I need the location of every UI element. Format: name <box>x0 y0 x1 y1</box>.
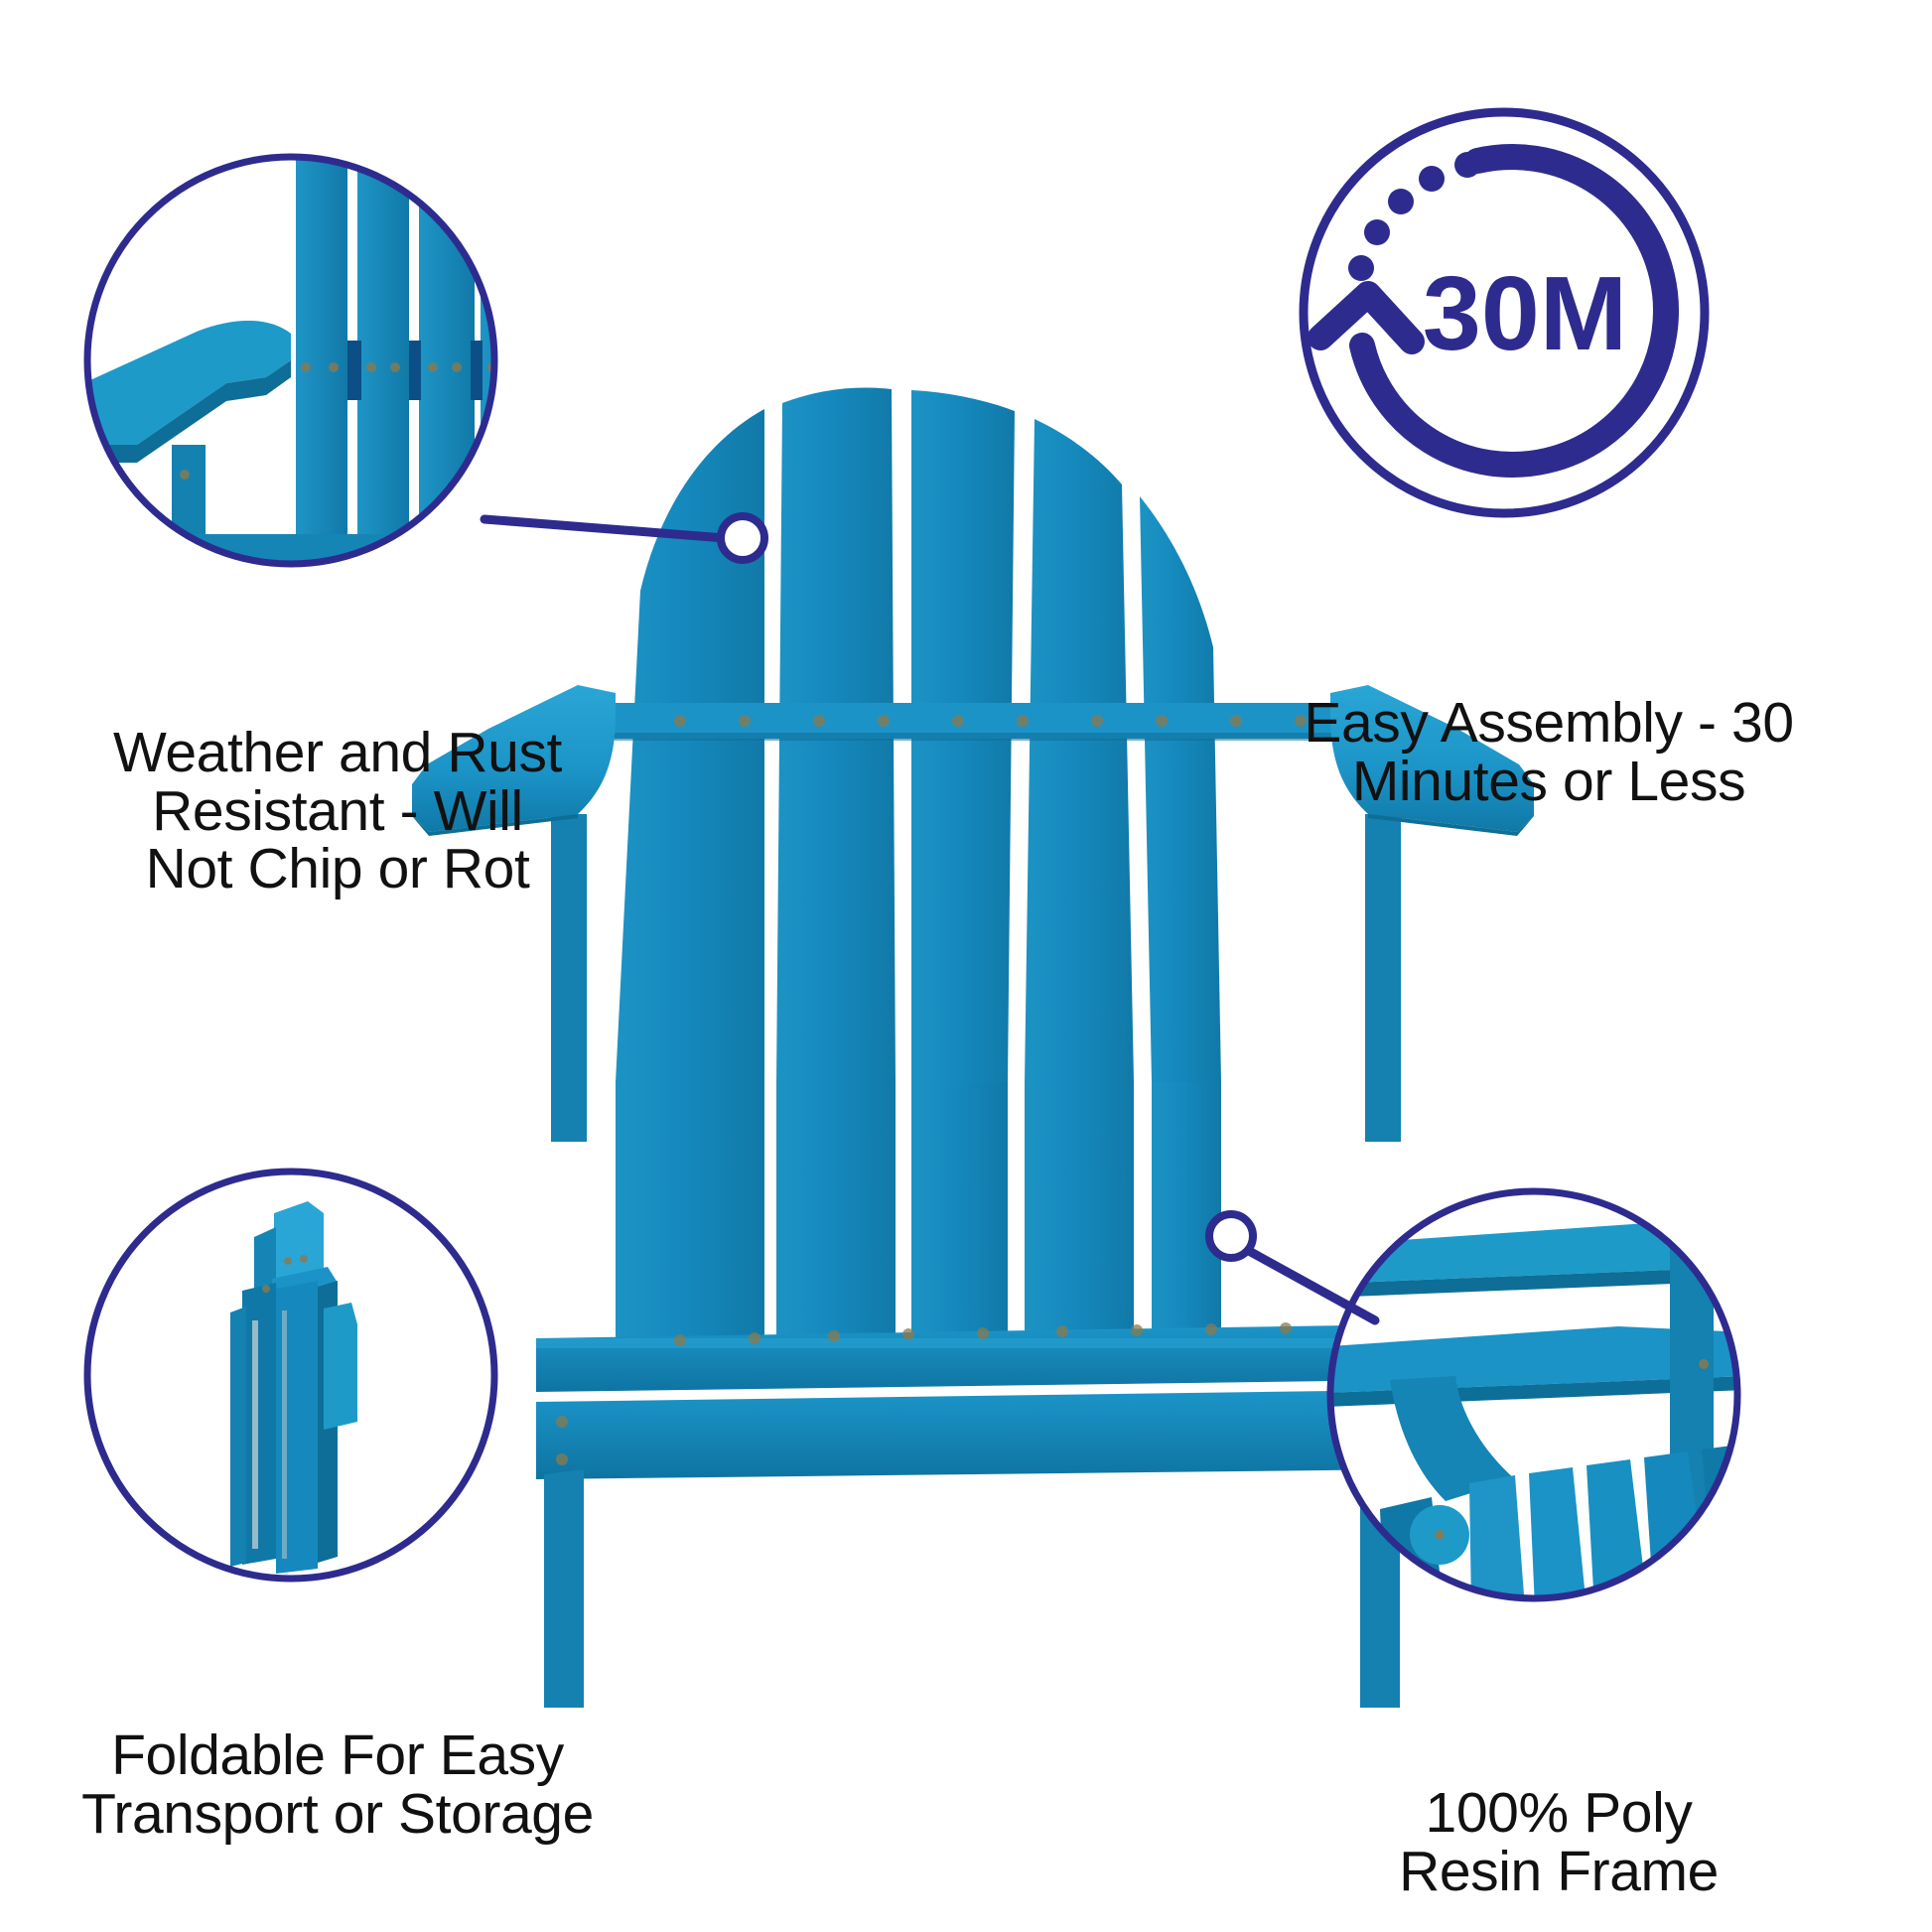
badge-outer-ring <box>1304 112 1705 513</box>
caption-easy-assembly: Easy Assembly - 30 Minutes or Less <box>1221 694 1876 810</box>
screw-detail <box>556 715 1307 1465</box>
main-product-image <box>467 387 1479 1529</box>
feature-detail-poly-resin <box>1320 1181 1747 1608</box>
badge-30m-assembly: 30M <box>1291 99 1718 526</box>
circular-arrow-icon <box>1362 157 1666 465</box>
callout-marker-dot <box>721 516 764 560</box>
right-arm-post <box>1365 814 1401 1142</box>
callout-line-poly-resin <box>1191 1201 1390 1330</box>
dotted-arc-icon <box>1348 152 1480 281</box>
callout-line-weather-rust <box>477 494 774 584</box>
armrest-back-slat-closeup <box>58 127 530 594</box>
chair-back-slats <box>616 388 1221 1340</box>
feature-detail-weather-rust <box>77 147 504 574</box>
arrow-head-icon <box>1320 294 1412 342</box>
badge-value-text: 30M <box>1423 255 1627 372</box>
chair-seat-rails <box>536 1324 1410 1479</box>
feature-detail-foldable <box>77 1162 504 1588</box>
folded-chair-profile <box>77 1162 504 1588</box>
chair-legs <box>544 1459 1400 1708</box>
infographic-canvas: Weather and Rust Resistant - Will Not Ch… <box>0 0 1932 1932</box>
chair-side-view-closeup <box>1301 1181 1747 1608</box>
caption-poly-resin: 100% Poly Resin Frame <box>1281 1784 1837 1900</box>
caption-foldable: Foldable For Easy Transport or Storage <box>20 1726 655 1843</box>
caption-weather-rust: Weather and Rust Resistant - Will Not Ch… <box>40 724 635 898</box>
callout-marker-dot <box>1209 1214 1253 1258</box>
